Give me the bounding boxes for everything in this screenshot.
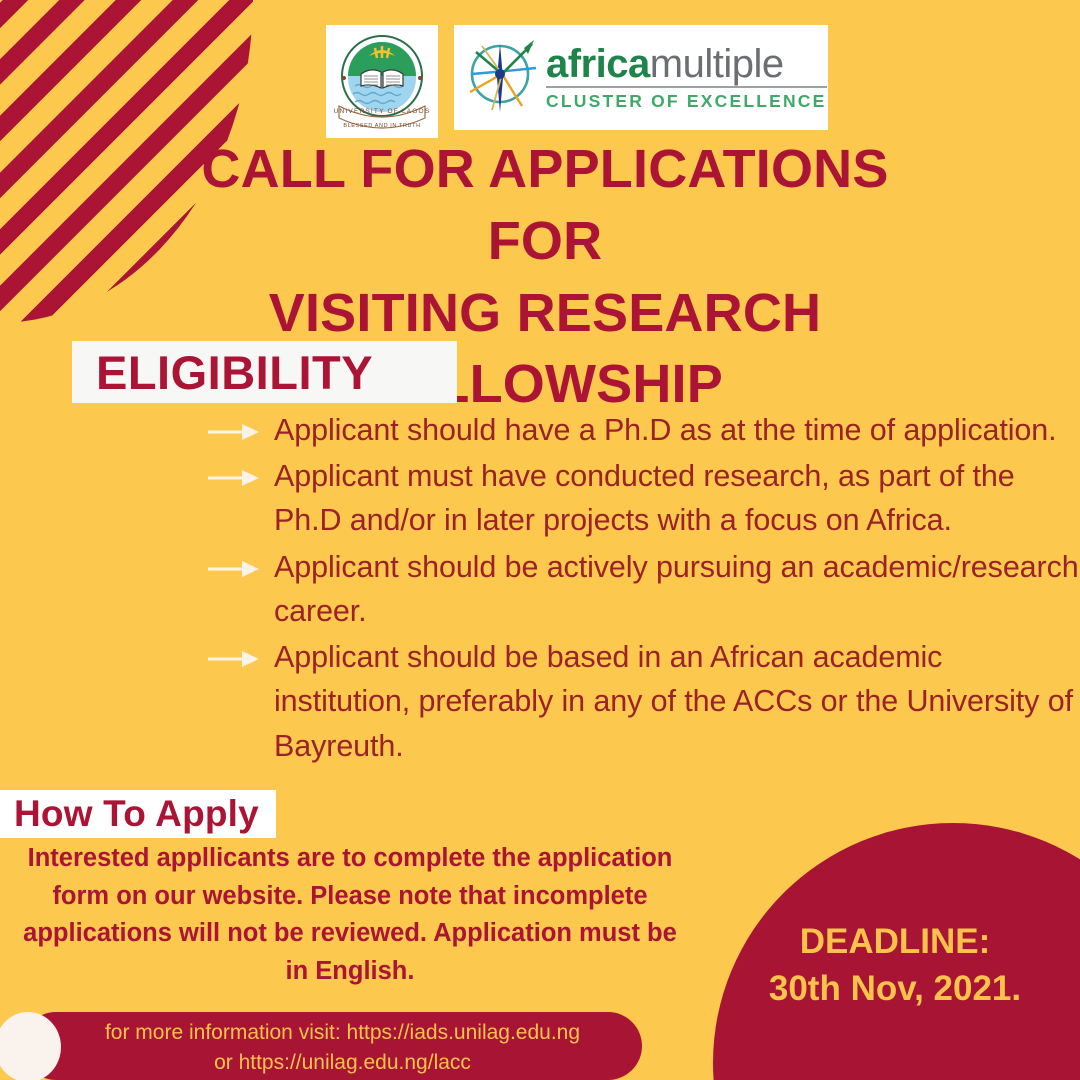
wordmark-africa: africa: [546, 42, 650, 86]
list-item-text: Applicant should be actively pursuing an…: [274, 545, 1080, 633]
footer-contact-info: for more information visit: https://iads…: [55, 1018, 630, 1079]
deadline-label: DEADLINE:: [735, 918, 1055, 965]
africa-multiple-wordmark: africamultiple: [546, 44, 827, 88]
deadline-block: DEADLINE: 30th Nov, 2021.: [735, 918, 1055, 1013]
deadline-date: 30th Nov, 2021.: [735, 965, 1055, 1012]
how-to-apply-body: Interested appllicants are to complete t…: [10, 840, 690, 991]
university-of-lagos-crest-icon: BLESSED AND IN TRUTH UNIVERSITY OF LAGOS: [326, 25, 438, 138]
list-item: Applicant should be actively pursuing an…: [208, 545, 1080, 633]
list-item-text: Applicant should be based in an African …: [274, 635, 1080, 768]
title-line-2: VISITING RESEARCH: [150, 278, 940, 350]
svg-text:BLESSED AND IN TRUTH: BLESSED AND IN TRUTH: [343, 123, 420, 129]
title-line-1: CALL FOR APPLICATIONS FOR: [150, 134, 940, 278]
list-item-text: Applicant should have a Ph.D as at the t…: [274, 408, 1080, 452]
eligibility-heading: ELIGIBILITY: [96, 345, 373, 400]
how-to-apply-heading: How To Apply: [14, 793, 259, 835]
africa-multiple-logo: africamultiple CLUSTER OF EXCELLENCE: [454, 25, 828, 130]
list-item: Applicant should have a Ph.D as at the t…: [208, 408, 1080, 452]
logo-row: BLESSED AND IN TRUTH UNIVERSITY OF LAGOS…: [326, 25, 831, 138]
wordmark-multiple: multiple: [650, 42, 784, 86]
arrow-right-icon: [208, 558, 260, 580]
list-item: Applicant must have conducted research, …: [208, 454, 1080, 542]
list-item-text: Applicant must have conducted research, …: [274, 454, 1080, 542]
how-to-apply-heading-band: How To Apply: [0, 790, 276, 838]
arrow-right-icon: [208, 467, 260, 489]
eligibility-list: Applicant should have a Ph.D as at the t…: [208, 408, 1080, 770]
arrow-right-icon: [208, 421, 260, 443]
footer-line-2[interactable]: or https://unilag.edu.ng/lacc: [55, 1048, 630, 1078]
list-item: Applicant should be based in an African …: [208, 635, 1080, 768]
poster-canvas: BLESSED AND IN TRUTH UNIVERSITY OF LAGOS…: [0, 0, 1080, 1080]
footer-ellipse-decoration: [0, 1012, 61, 1080]
eligibility-heading-band: ELIGIBILITY: [72, 341, 457, 403]
footer-line-1[interactable]: for more information visit: https://iads…: [55, 1018, 630, 1048]
svg-text:UNIVERSITY OF LAGOS: UNIVERSITY OF LAGOS: [334, 108, 431, 115]
arrow-right-icon: [208, 648, 260, 670]
compass-icon: [462, 34, 540, 122]
logo-tagline: CLUSTER OF EXCELLENCE: [546, 93, 827, 111]
